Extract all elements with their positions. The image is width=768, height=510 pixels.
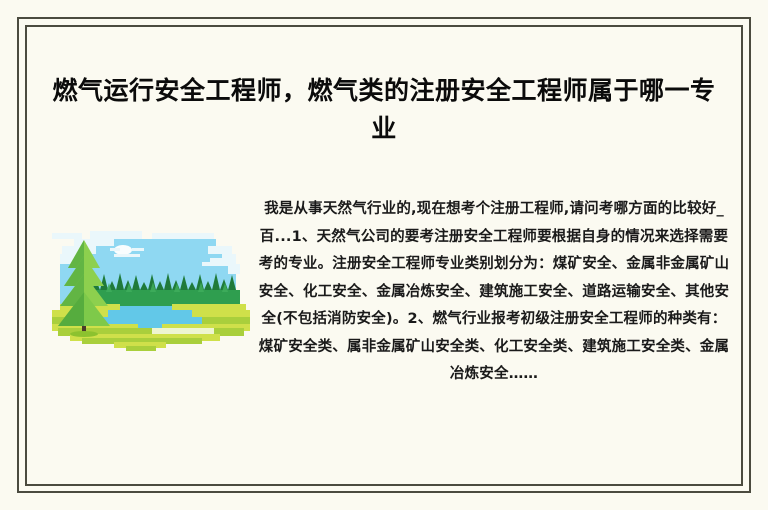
article-body: 我是从事天然气行业的,现在想考个注册工程师,请问考哪方面的比较好_百...1、天… <box>258 196 730 389</box>
page-title: 燃气运行安全工程师，燃气类的注册安全工程师属于哪一专业 <box>52 72 716 148</box>
article-card: 燃气运行安全工程师，燃气类的注册安全工程师属于哪一专业 <box>0 0 768 510</box>
content-area: 我是从事天然气行业的,现在想考个注册工程师,请问考哪方面的比较好_百...1、天… <box>40 196 730 456</box>
page-title-container: 燃气运行安全工程师，燃气类的注册安全工程师属于哪一专业 <box>52 72 716 148</box>
forest-lake-illustration <box>52 228 250 356</box>
